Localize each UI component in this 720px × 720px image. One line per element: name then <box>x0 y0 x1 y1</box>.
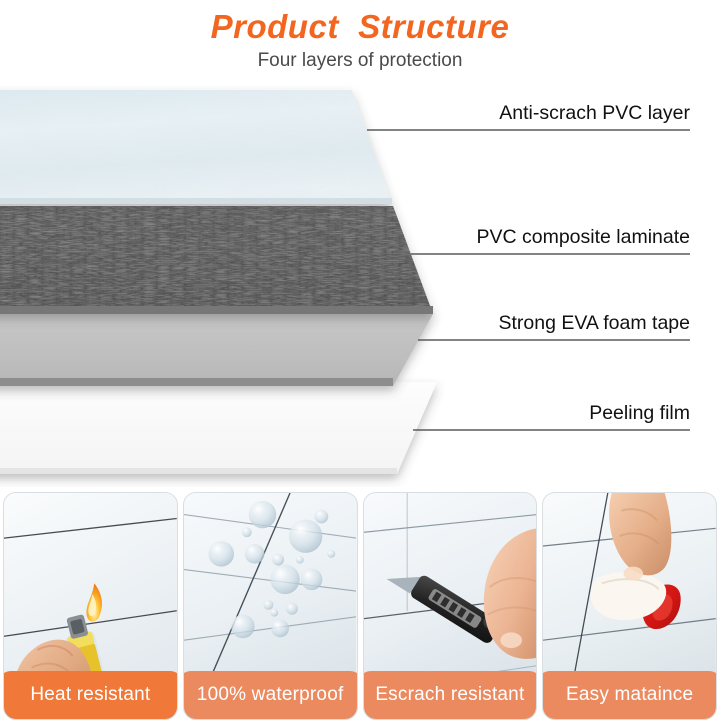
layer-label-pvc-composite-laminate: PVC composite laminate <box>476 228 690 248</box>
page-title: Product Structure <box>0 9 720 46</box>
layer-label-anti-scratch-pvc: Anti-scrach PVC layer <box>499 104 690 124</box>
product-layer-diagram: Anti-scrach PVC layer PVC composite lami… <box>0 82 720 487</box>
feature-label-easy-maintenance: Easy mataince <box>542 671 717 719</box>
feature-panel-scratch-resistant[interactable]: Escrach resistant <box>363 492 538 720</box>
feature-label-scratch-resistant: Escrach resistant <box>363 671 538 719</box>
layer-2-pvc-composite-laminate <box>0 206 440 314</box>
feature-label-waterproof: 100% waterproof <box>183 671 358 719</box>
feature-panel-easy-maintenance[interactable]: Easy mataince <box>542 492 717 720</box>
feature-panel-heat-resistant[interactable]: Heat resistant <box>3 492 178 720</box>
feature-panels: Heat resistant <box>0 492 720 720</box>
feature-label-heat-resistant: Heat resistant <box>3 671 178 719</box>
page-header: Product Structure Four layers of protect… <box>0 0 720 75</box>
layer-label-peeling-film: Peeling film <box>589 404 690 424</box>
layer-1-anti-scratch-pvc <box>0 90 400 206</box>
page-subtitle: Four layers of protection <box>0 47 720 76</box>
layer-label-strong-eva-foam-tape: Strong EVA foam tape <box>498 314 690 334</box>
layer-stack-illustration <box>0 82 720 487</box>
layer-4-peeling-film <box>0 382 437 474</box>
layer-3-eva-foam-tape <box>0 314 433 386</box>
feature-panel-waterproof[interactable]: 100% waterproof <box>183 492 358 720</box>
